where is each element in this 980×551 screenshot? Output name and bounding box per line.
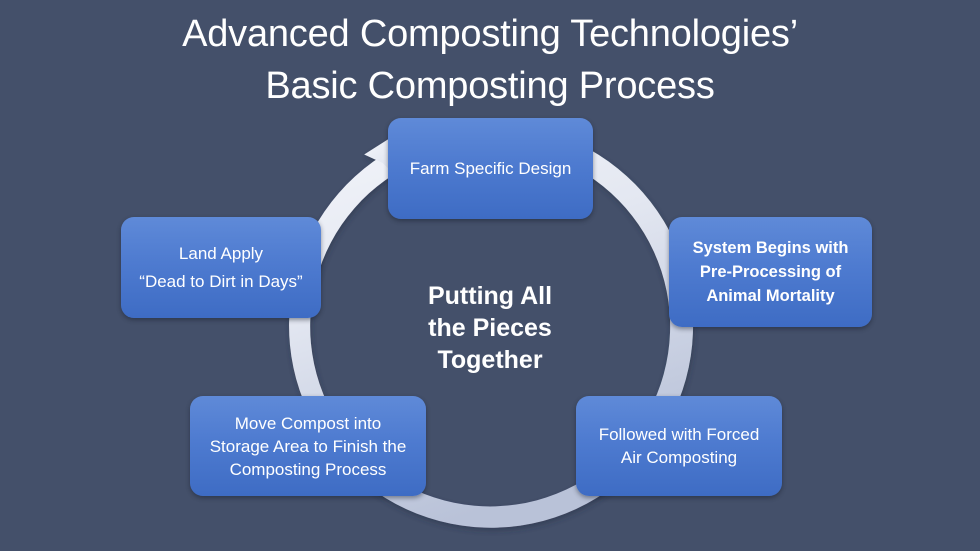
cycle-node-label: Move Compost into Storage Area to Finish… <box>200 412 416 481</box>
cycle-node-label: System Begins with Pre-Processing of Ani… <box>679 236 862 308</box>
cycle-node-label: Followed with Forced Air Composting <box>586 423 772 469</box>
page-title: Advanced Composting Technologies’ Basic … <box>0 8 980 112</box>
cycle-node-system-begins[interactable]: System Begins with Pre-Processing of Ani… <box>669 217 872 327</box>
cycle-node-label: Farm Specific Design <box>398 157 583 180</box>
cycle-node-land-apply[interactable]: Land Apply “Dead to Dirt in Days” <box>121 217 321 318</box>
slide-canvas: Advanced Composting Technologies’ Basic … <box>0 0 980 551</box>
cycle-node-move-compost[interactable]: Move Compost into Storage Area to Finish… <box>190 396 426 496</box>
cycle-center-caption: Putting All the Pieces Together <box>390 280 590 376</box>
cycle-node-label: Land Apply “Dead to Dirt in Days” <box>131 240 311 296</box>
cycle-node-forced-air-composting[interactable]: Followed with Forced Air Composting <box>576 396 782 496</box>
cycle-node-farm-specific-design[interactable]: Farm Specific Design <box>388 118 593 219</box>
